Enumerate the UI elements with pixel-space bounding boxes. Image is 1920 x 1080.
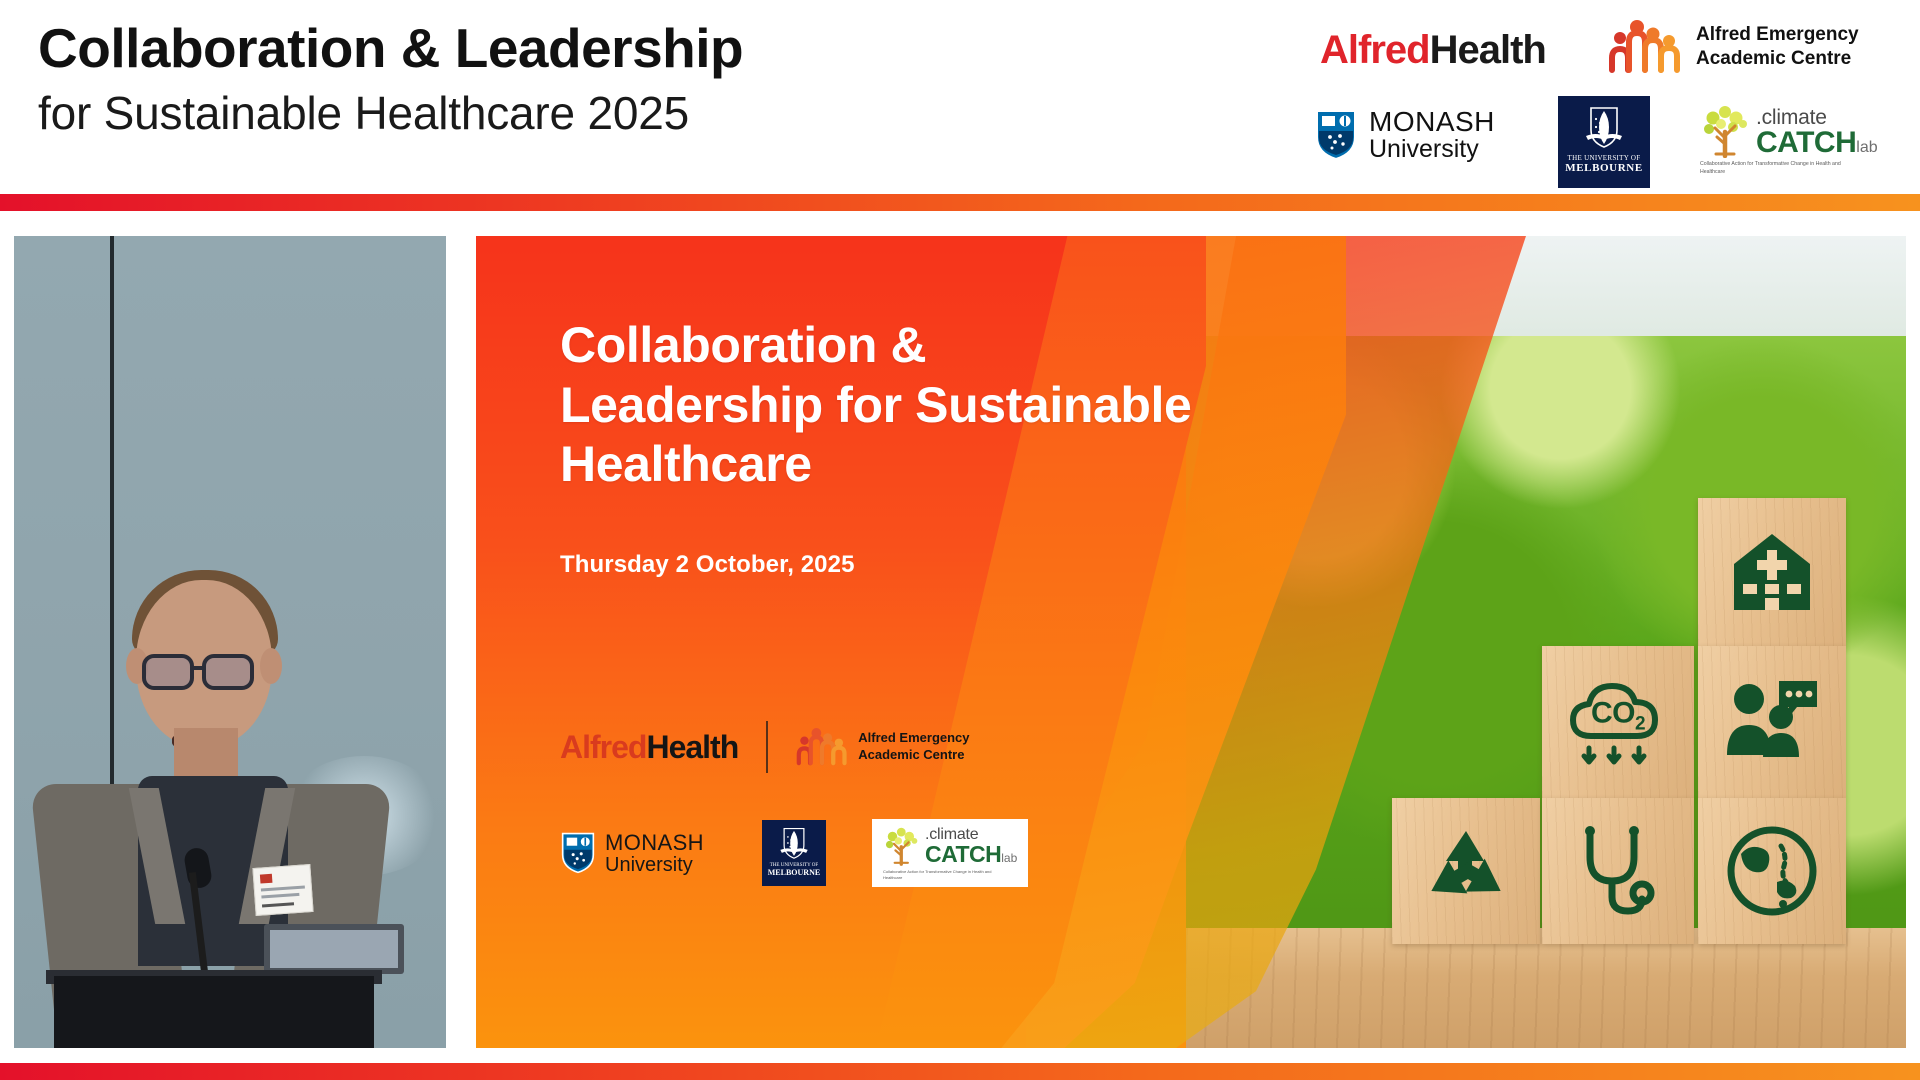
speaker-name-badge <box>252 864 313 916</box>
monash-crest-icon <box>1314 109 1358 161</box>
header-accent-bar <box>0 194 1920 211</box>
aeac-logo-line-2: Academic Centre <box>1696 47 1859 71</box>
wooden-block-globe <box>1698 798 1846 944</box>
wooden-block-hospital <box>1698 498 1846 646</box>
monash-university-logo: MONASH University <box>1314 108 1495 162</box>
speaker-glasses-bridge <box>194 666 204 670</box>
slide-date: Thursday 2 October, 2025 <box>560 551 1200 579</box>
photo-wooden-table <box>1186 928 1906 1048</box>
slide-climate-catch-tagline: Collaborative Action for Transformative … <box>883 869 1003 881</box>
speaker-glasses-left-lens <box>142 654 194 690</box>
slide-logo-row-1: AlfredHealth Alfred Emer <box>560 716 1028 778</box>
co2-block-label: CO2 <box>1591 696 1645 735</box>
stethoscope-icon <box>1572 823 1664 919</box>
monash-logo-line-1: MONASH <box>1369 108 1495 136</box>
speaker-video-panel[interactable] <box>14 236 446 1048</box>
speaker-ear-right <box>260 648 282 684</box>
page-title-line-2: for Sustainable Healthcare 2025 <box>38 86 743 141</box>
wooden-block-stethoscope <box>1542 798 1694 944</box>
slide-climate-catch-wordmark: .climate CATCHlab <box>925 827 1017 866</box>
slide-text-block: Collaboration & Leadership for Sustainab… <box>560 316 1200 579</box>
slide-aeac-logo-line-1: Alfred Emergency <box>858 730 969 747</box>
climate-catch-tagline: Collaborative Action for Transformative … <box>1700 161 1860 176</box>
slide-logo-row-2: MONASH University THE UNIVERSITY OF MELB… <box>560 818 1028 888</box>
slide-alfred-health-logo-black: Health <box>646 729 738 765</box>
slide-melbourne-crest-icon <box>775 824 813 862</box>
badge-logo-mark <box>260 874 273 884</box>
slide-aeac-logo-line-2: Academic Centre <box>858 747 969 764</box>
slide-monash-logo: MONASH University <box>560 832 704 875</box>
header-logo-row-1: AlfredHealth Alfred Emergency <box>1300 14 1920 86</box>
melbourne-crest-icon <box>1579 102 1629 152</box>
melbourne-logo-line-1: THE UNIVERSITY OF <box>1568 154 1641 162</box>
recycle-icon <box>1418 825 1514 917</box>
alfred-emergency-academic-centre-logo: Alfred Emergency Academic Centre <box>1608 18 1859 76</box>
melbourne-logo-line-2: MELBOURNE <box>1565 162 1643 174</box>
presentation-slide[interactable]: CO2 <box>476 236 1906 1048</box>
people-chat-icon <box>1723 677 1821 767</box>
page-title-line-1: Collaboration & Leadership <box>38 18 743 80</box>
slide-aeac-logo-text: Alfred Emergency Academic Centre <box>858 730 969 764</box>
monash-logo-line-2: University <box>1369 137 1495 162</box>
globe-icon <box>1725 824 1819 918</box>
slide-monash-logo-line-2: University <box>605 855 704 875</box>
header-title-block: Collaboration & Leadership for Sustainab… <box>38 18 743 141</box>
speaker-glasses-right-lens <box>202 654 254 690</box>
alfred-health-logo: AlfredHealth <box>1320 28 1546 73</box>
presentation-stage: Collaboration & Leadership for Sustainab… <box>0 0 1920 1080</box>
university-of-melbourne-logo: THE UNIVERSITY OF MELBOURNE <box>1558 96 1650 188</box>
slide-melbourne-logo-line-2: MELBOURNE <box>768 868 820 877</box>
slide-climate-catch-lab-main: .climate CATCHlab <box>883 826 1017 866</box>
hospital-icon <box>1726 526 1818 618</box>
slide-lab-word: lab <box>1001 851 1017 865</box>
slide-logo-divider <box>766 721 768 773</box>
climate-catch-tree-icon <box>1700 104 1752 158</box>
slide-melbourne-logo: THE UNIVERSITY OF MELBOURNE <box>762 820 826 886</box>
lectern-laptop-screen <box>270 930 398 968</box>
climate-catch-wordmark: .climate CATCHlab <box>1756 107 1878 158</box>
slide-monash-logo-text: MONASH University <box>605 832 704 875</box>
slide-catch-word: CATCH <box>925 841 1001 867</box>
slide-aeac-people-icon <box>796 726 848 768</box>
slide-climate-catch-tree-icon <box>883 826 921 866</box>
aeac-logo-line-1: Alfred Emergency <box>1696 23 1859 47</box>
wooden-block-co2: CO2 <box>1542 646 1694 798</box>
header-logo-row-2: MONASH University THE UNIVERSITY OF MELB… <box>1300 100 1920 186</box>
slide-aeac-logo: Alfred Emergency Academic Centre <box>796 726 969 768</box>
slide-title: Collaboration & Leadership for Sustainab… <box>560 316 1200 495</box>
badge-text-line-3 <box>262 902 294 907</box>
badge-text-line-2 <box>261 893 299 899</box>
footer-accent-bar <box>0 1063 1920 1080</box>
alfred-health-logo-black: Health <box>1430 28 1546 72</box>
aeac-logo-text: Alfred Emergency Academic Centre <box>1696 23 1859 71</box>
slide-climate-catch-lab-logo: .climate CATCHlab Collaborative Action f… <box>872 819 1028 887</box>
slide-monash-logo-line-1: MONASH <box>605 832 704 854</box>
climate-catch-lab-main: .climate CATCHlab <box>1700 104 1878 158</box>
lectern <box>54 976 374 1048</box>
slide-alfred-health-logo: AlfredHealth <box>560 729 738 766</box>
lab-word: lab <box>1856 139 1877 156</box>
header-logo-group: AlfredHealth Alfred Emergency <box>1300 0 1920 194</box>
slide-alfred-health-logo-red: Alfred <box>560 729 646 765</box>
aeac-people-icon <box>1608 18 1682 76</box>
page-header: Collaboration & Leadership for Sustainab… <box>0 0 1920 194</box>
wooden-block-people <box>1698 646 1846 798</box>
climate-catch-lab-logo: .climate CATCHlab Collaborative Action f… <box>1700 104 1878 176</box>
monash-logo-text: MONASH University <box>1369 108 1495 162</box>
slide-monash-crest-icon <box>560 832 596 874</box>
catch-word: CATCH <box>1756 126 1856 159</box>
wooden-block-recycle <box>1392 798 1540 944</box>
slide-logo-group: AlfredHealth Alfred Emer <box>560 716 1028 888</box>
climate-word: .climate <box>1756 107 1878 128</box>
badge-text-line-1 <box>261 885 305 891</box>
alfred-health-logo-red: Alfred <box>1320 28 1430 72</box>
